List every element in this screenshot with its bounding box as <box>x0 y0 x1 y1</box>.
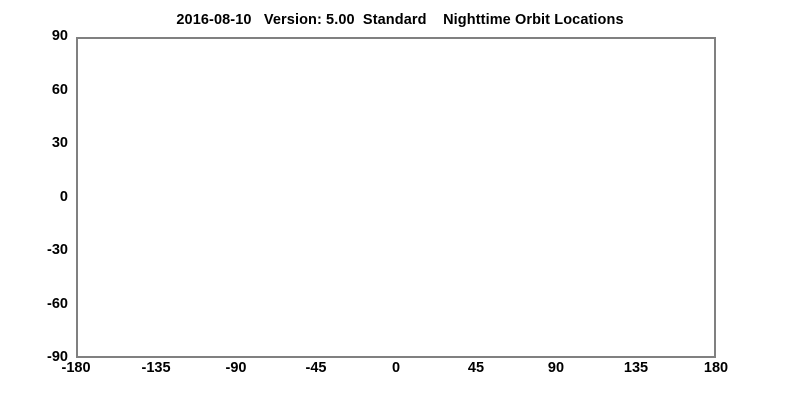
y-tick-label: 0 <box>8 189 68 205</box>
x-tick-label: 90 <box>521 360 591 376</box>
x-tick-label: 45 <box>441 360 511 376</box>
x-tick-label: -180 <box>41 360 111 376</box>
y-tick-label: 30 <box>8 135 68 151</box>
y-tick-label: -60 <box>8 296 68 312</box>
x-tick-label: 135 <box>601 360 671 376</box>
plot-area <box>76 37 716 358</box>
y-tick-label: -30 <box>8 242 68 258</box>
plot-frame <box>76 37 716 358</box>
x-tick-label: -135 <box>121 360 191 376</box>
orbit-map-figure: 2016-08-10 Version: 5.00 Standard Nightt… <box>0 0 800 400</box>
page-title: 2016-08-10 Version: 5.00 Standard Nightt… <box>0 12 800 28</box>
y-tick-label: 60 <box>8 82 68 98</box>
y-tick-label: 90 <box>8 28 68 44</box>
x-tick-label: -45 <box>281 360 351 376</box>
x-tick-label: -90 <box>201 360 271 376</box>
x-tick-label: 0 <box>361 360 431 376</box>
x-tick-label: 180 <box>681 360 751 376</box>
